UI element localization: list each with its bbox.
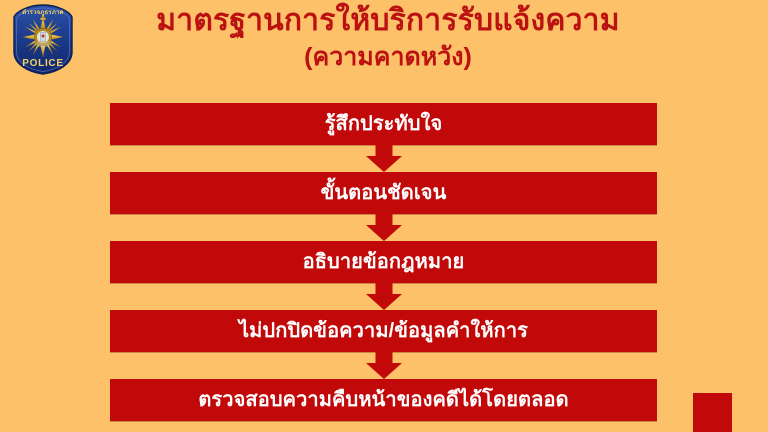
badge-arc-text: ตำรวจภูธรภาค bbox=[8, 7, 78, 17]
arrow-head bbox=[366, 156, 402, 172]
flow-step-label: ตรวจสอบความคืบหน้าของคดีได้โดยตลอด bbox=[198, 390, 568, 410]
expectation-flow-chart: รู้สึกประทับใจ ขั้นตอนชัดเจน อธิบายข้อกฎ… bbox=[110, 103, 657, 421]
badge-police-text: POLICE bbox=[8, 58, 78, 69]
flow-connector-1 bbox=[110, 145, 657, 172]
flow-step-3[interactable]: อธิบายข้อกฎหมาย bbox=[110, 241, 657, 283]
flow-step-2[interactable]: ขั้นตอนชัดเจน bbox=[110, 172, 657, 214]
police-badge-logo: ตำรวจภูธรภาค POLICE bbox=[8, 4, 78, 76]
flow-step-label: ขั้นตอนชัดเจน bbox=[321, 183, 447, 203]
arrow-head bbox=[366, 294, 402, 310]
flow-connector-3 bbox=[110, 283, 657, 310]
arrow-down-icon bbox=[364, 283, 404, 310]
page-title: มาตรฐานการให้บริการรับแจ้งความ bbox=[78, 2, 698, 40]
arrow-down-icon bbox=[364, 214, 404, 241]
flow-step-label: ไม่ปกปิดข้อความ/ข้อมูลคำให้การ bbox=[239, 321, 528, 341]
header-block: มาตรฐานการให้บริการรับแจ้งความ (ความคาดห… bbox=[78, 2, 698, 72]
arrow-down-icon bbox=[364, 145, 404, 172]
flow-step-label: อธิบายข้อกฎหมาย bbox=[303, 252, 465, 272]
flow-connector-2 bbox=[110, 214, 657, 241]
flow-step-5[interactable]: ตรวจสอบความคืบหน้าของคดีได้โดยตลอด bbox=[110, 379, 657, 421]
decorative-corner-block bbox=[693, 393, 732, 432]
flow-connector-4 bbox=[110, 352, 657, 379]
flow-step-label: รู้สึกประทับใจ bbox=[325, 114, 443, 134]
slide-canvas: ตำรวจภูธรภาค POLICE มาตรฐานการให้บริการร… bbox=[0, 0, 768, 432]
arrow-head bbox=[366, 225, 402, 241]
flow-step-4[interactable]: ไม่ปกปิดข้อความ/ข้อมูลคำให้การ bbox=[110, 310, 657, 352]
flow-step-1[interactable]: รู้สึกประทับใจ bbox=[110, 103, 657, 145]
arrow-down-icon bbox=[364, 352, 404, 379]
page-subtitle: (ความคาดหวัง) bbox=[78, 42, 698, 72]
arrow-head bbox=[366, 363, 402, 379]
